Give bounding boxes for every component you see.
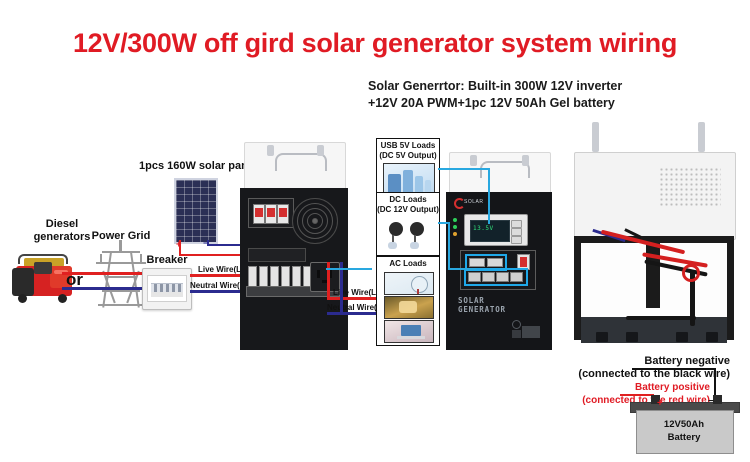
- rear-breaker-group: [248, 198, 294, 228]
- dc-output-port-3[interactable]: [496, 272, 509, 282]
- wire-ac-out-live: [327, 297, 382, 300]
- cooling-fan-grille: [292, 198, 338, 244]
- subtitle-line-2: +12V 20A PWM+1pc 12V 50Ah Gel battery: [368, 95, 698, 112]
- dc-output-port-1[interactable]: [468, 272, 481, 282]
- subtitle-block: Solar Generrtor: Built-in 300W 12V inver…: [368, 78, 698, 112]
- battery-positive-sign: +: [657, 398, 663, 409]
- front-unit-brand-text: SOLAR GENERATOR: [458, 296, 506, 314]
- lcd-button-group: [509, 219, 523, 241]
- breaker-switch-2: [160, 284, 163, 292]
- lcd-screen: 13.5V: [470, 220, 510, 242]
- terminal-pin-1[interactable]: [248, 266, 257, 288]
- lamp-shade: [399, 301, 417, 313]
- output-port-group: [460, 250, 536, 290]
- open-unit-foot-3: [676, 332, 688, 342]
- solar-generator-front-unit: SOLAR 13.5V: [446, 152, 552, 350]
- pylon-brace-2: [102, 290, 140, 292]
- usb-port-1[interactable]: [469, 258, 485, 267]
- dc-port-highlight: [464, 268, 528, 286]
- battery-name-line-2: Battery: [636, 431, 732, 444]
- open-unit-vent-grille: [659, 167, 721, 207]
- pylon-insulator-l: [100, 254, 102, 262]
- dc-loads-box: DC Loads (DC 12V Output): [376, 192, 440, 256]
- ac-loads-title: AC Loads: [377, 259, 439, 269]
- battery-negative-terminal: [713, 395, 722, 404]
- lcd-button-up[interactable]: [511, 220, 522, 228]
- wire-battery-positive-run: [620, 394, 654, 396]
- ring-terminal-red: [682, 264, 700, 282]
- battery-name-line-1: 12V50Ah: [636, 418, 732, 431]
- dc-plug-2: [410, 242, 419, 249]
- decorative-house-icon: [510, 318, 544, 342]
- usb-loads-title-line-1: USB 5V Loads: [381, 141, 436, 150]
- wire-ac-out-neutral: [327, 312, 382, 315]
- rear-warning-plate: [248, 248, 306, 262]
- fan-hub: [312, 218, 318, 224]
- dc-output-port-2[interactable]: [482, 272, 495, 282]
- dc-bulb-head-1: [389, 222, 403, 236]
- solar-panel-cell-grid: [176, 180, 216, 242]
- breaker-switch-1: [154, 284, 157, 292]
- page-title: 12V/300W off gird solar generator system…: [0, 28, 750, 59]
- dc-bulb-head-2: [410, 222, 424, 236]
- dc-loads-title: DC Loads (DC 12V Output): [377, 195, 439, 215]
- rear-unit-top-cover: [244, 142, 346, 192]
- solar-generator-rear-unit: [240, 142, 348, 350]
- lcd-button-down[interactable]: [511, 228, 522, 236]
- rear-unit-bolt-right: [317, 145, 324, 156]
- lcd-button-set[interactable]: [511, 236, 522, 244]
- rear-breaker-3[interactable]: [277, 204, 289, 224]
- terminal-pin-2[interactable]: [259, 266, 268, 288]
- fan-head: [411, 276, 428, 293]
- table-lamp-photo: [384, 296, 434, 319]
- front-unit-bolt-right: [522, 155, 529, 166]
- dc-output-port-4[interactable]: [510, 272, 523, 282]
- open-unit-foot-4: [706, 332, 718, 342]
- breaker-switch-4: [172, 284, 175, 292]
- socket-pin-left: [317, 270, 320, 278]
- sun-icon: [512, 320, 521, 329]
- brand-line-1: SOLAR: [458, 296, 506, 305]
- rear-unit-bolt-left: [267, 145, 274, 156]
- terminal-pin-3[interactable]: [270, 266, 279, 288]
- laptop-keyboard: [397, 336, 425, 339]
- solar-generator-open-view: [570, 146, 744, 350]
- brand-line-2: GENERATOR: [458, 305, 506, 314]
- laptop-photo: [384, 320, 434, 343]
- wire-ac-socket-link: [326, 268, 372, 270]
- dc-plug-1: [388, 242, 397, 249]
- rear-breaker-1[interactable]: [253, 204, 265, 224]
- breaker-switch-5: [178, 284, 181, 292]
- diagram-canvas: 12V/300W off gird solar generator system…: [0, 0, 750, 462]
- dc-lamp-photo: [383, 217, 435, 251]
- front-unit-panel: SOLAR 13.5V: [446, 192, 552, 350]
- terminal-pin-4[interactable]: [281, 266, 290, 288]
- battery-positive-line-1: Battery positive: [516, 381, 710, 394]
- open-unit-foot-2: [626, 332, 638, 342]
- wire-grid-live-in: [62, 272, 146, 275]
- wire-battery-negative-run: [632, 368, 716, 370]
- open-unit-foot-1: [596, 332, 608, 342]
- lcd-display: 13.5V: [464, 214, 528, 246]
- open-unit-bolt-left: [592, 122, 599, 152]
- breaker-box-interior: [147, 275, 187, 302]
- front-unit-top-cover: [449, 152, 551, 196]
- pylon-brace-1: [106, 276, 136, 278]
- logo-wordmark: SOLAR: [464, 199, 483, 205]
- dc-loads-title-line-1: DC Loads: [389, 195, 426, 204]
- generator-air-filter: [34, 262, 52, 274]
- breaker-switch-3: [166, 284, 169, 292]
- pylon-crossarm-mid: [96, 262, 146, 264]
- breaker-lower-rail: [151, 292, 183, 297]
- subtitle-line-1: Solar Generrtor: Built-in 300W 12V inver…: [368, 78, 698, 95]
- usb-loads-title: USB 5V Loads (DC 5V Output): [377, 141, 439, 161]
- front-unit-bolt-left: [470, 155, 477, 166]
- lcd-reading: 13.5V: [473, 225, 494, 232]
- status-led-group: [452, 218, 460, 240]
- pylon-brace-3: [98, 304, 144, 306]
- usb-port-2[interactable]: [487, 258, 503, 267]
- dc-loads-title-line-2: (DC 12V Output): [377, 205, 439, 214]
- pylon-crossarm-top: [102, 251, 140, 253]
- open-unit-bolt-right: [698, 122, 705, 152]
- laptop-screen: [401, 325, 421, 336]
- breaker-distribution-box: [142, 268, 192, 310]
- generator-foot-right: [58, 294, 67, 303]
- wire-dc-load-drop: [448, 222, 450, 270]
- wire-usb-load-drop: [488, 168, 490, 224]
- generator-foot-left: [18, 294, 27, 303]
- open-unit-upper-case: [574, 152, 736, 240]
- battery-name-label: 12V50Ah Battery: [636, 418, 732, 444]
- fan-stand: [417, 289, 419, 294]
- ac-loads-title-line-1: AC Loads: [389, 259, 426, 268]
- house-body-icon: [522, 326, 540, 338]
- panel-icon: [512, 330, 521, 338]
- internal-wire-black-3: [626, 316, 696, 320]
- battery-negative-line-1: Battery negative: [530, 355, 730, 368]
- led-run-icon: [453, 225, 457, 229]
- generator-engine-block: [12, 268, 34, 296]
- usb-loads-title-line-2: (DC 5V Output): [379, 151, 436, 160]
- terminal-pin-5[interactable]: [292, 266, 301, 288]
- electric-fan-photo: [384, 272, 434, 295]
- wire-dc-load-run: [448, 268, 476, 270]
- wire-grid-neutral-in: [62, 287, 146, 290]
- wire-usb-load-run: [438, 168, 490, 170]
- ac-loads-box: AC Loads: [376, 256, 440, 346]
- battery-negative-sign: −: [708, 396, 714, 407]
- solar-panel-image: [174, 178, 218, 244]
- rear-breaker-2[interactable]: [265, 204, 277, 224]
- led-charge-icon: [453, 218, 457, 222]
- led-fault-icon: [453, 232, 457, 236]
